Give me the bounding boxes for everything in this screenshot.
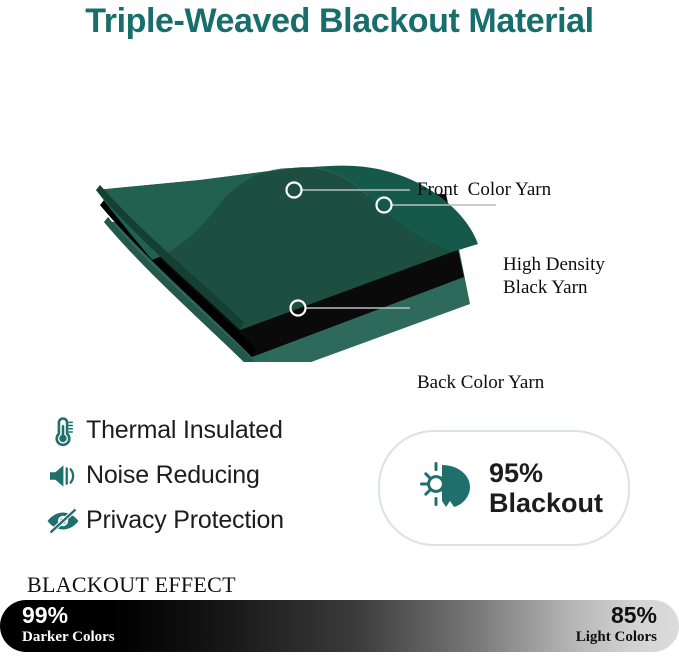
blackout-badge-text: 95% Blackout (489, 458, 603, 518)
infographic-page: Triple-Weaved Blackout Material (0, 0, 679, 656)
speaker-icon (40, 461, 86, 491)
blackout-badge: 95% Blackout (378, 430, 630, 546)
page-title: Triple-Weaved Blackout Material (0, 2, 679, 41)
blackout-percent: 95% (489, 458, 543, 488)
bar-label-darker-colors: 99% Darker Colors (22, 603, 115, 646)
feature-item-privacy-protection: Privacy Protection (40, 498, 370, 543)
feature-label: Privacy Protection (86, 506, 284, 535)
fabric-layers-diagram: Front Color Yarn High Density Black Yarn… (0, 72, 679, 362)
bar-caption: Darker Colors (22, 628, 115, 646)
feature-label: Thermal Insulated (86, 416, 283, 445)
callout-label-back-color-yarn: Back Color Yarn (417, 372, 544, 395)
bar-caption: Light Colors (576, 628, 657, 646)
bar-label-light-colors: 85% Light Colors (576, 603, 657, 646)
blackout-effect-bar: 99% Darker Colors 85% Light Colors (0, 600, 679, 652)
bar-percent: 85% (576, 603, 657, 628)
blackout-caption: Blackout (489, 488, 603, 518)
feature-label: Noise Reducing (86, 461, 260, 490)
feature-item-thermal-insulated: Thermal Insulated (40, 408, 370, 453)
thermometer-icon (40, 414, 86, 448)
feature-item-noise-reducing: Noise Reducing (40, 453, 370, 498)
feature-list: Thermal Insulated Noise Reducing (40, 408, 370, 543)
blackout-effect-title: BLACKOUT EFFECT (27, 572, 236, 598)
callout-label-front-color-yarn: Front Color Yarn (417, 179, 551, 202)
bar-percent: 99% (22, 603, 115, 628)
callout-label-high-density-black-yarn: High Density Black Yarn (503, 254, 605, 300)
eye-slash-icon (40, 506, 86, 536)
sun-blocked-icon (405, 455, 489, 521)
